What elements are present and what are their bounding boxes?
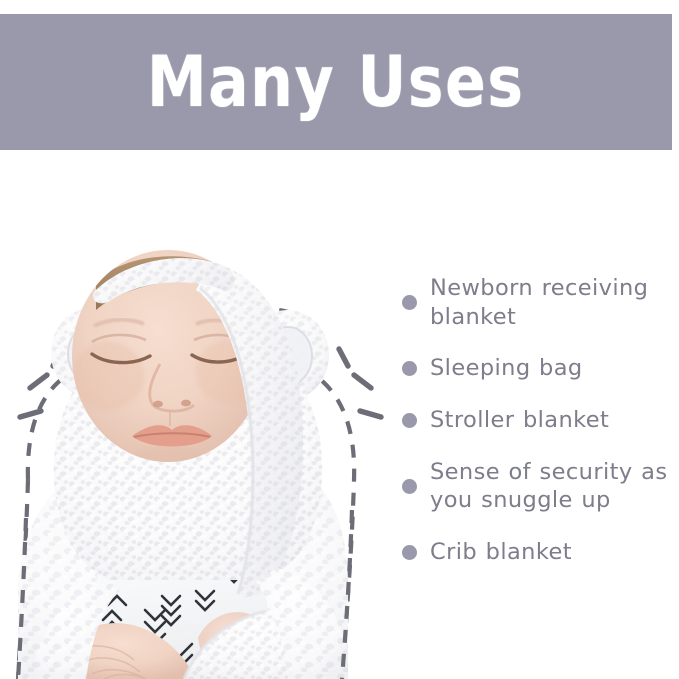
use-label: Stroller blanket <box>430 406 609 435</box>
list-item: Sleeping bag <box>402 354 679 384</box>
page-title: Many Uses <box>147 47 525 118</box>
product-feature-card: Many Uses <box>0 0 679 679</box>
baby-blanket-illustration <box>0 150 400 679</box>
use-label: Crib blanket <box>430 538 572 567</box>
use-label: Sense of security as you snuggle up <box>430 458 679 516</box>
use-label: Newborn receiving blanket <box>430 274 679 332</box>
bullet-dot-icon <box>402 413 417 428</box>
list-item: Stroller blanket <box>402 406 679 436</box>
bullet-dot-icon <box>402 295 417 310</box>
bullet-dot-icon <box>402 361 417 376</box>
list-item: Sense of security as you snuggle up <box>402 458 679 516</box>
bullet-dot-icon <box>402 545 417 560</box>
header-banner: Many Uses <box>0 14 672 150</box>
list-item: Newborn receiving blanket <box>402 274 679 332</box>
uses-list: Newborn receiving blanket Sleeping bag S… <box>402 274 679 567</box>
bullet-dot-icon <box>402 479 417 494</box>
use-label: Sleeping bag <box>430 354 583 383</box>
content-area: Newborn receiving blanket Sleeping bag S… <box>0 150 679 679</box>
list-item: Crib blanket <box>402 537 679 567</box>
product-photo <box>0 150 400 679</box>
